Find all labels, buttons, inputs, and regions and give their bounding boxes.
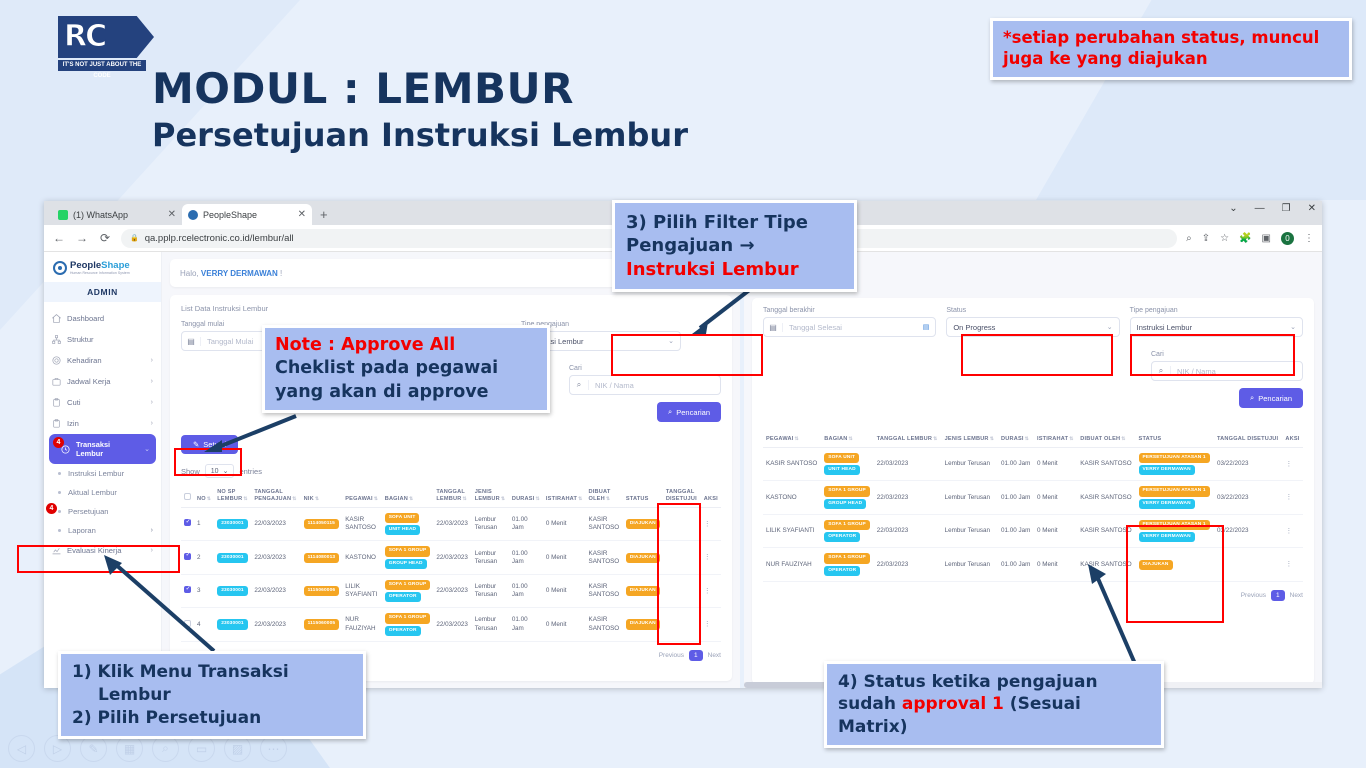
sidebar-item-label: Jadwal Kerja [67,377,110,386]
callout-line: Pengajuan → [626,234,843,257]
cell-tanggal-lembur: 22/03/2023 [433,507,471,540]
tab-label: (1) WhatsApp [73,210,163,220]
col-tanggal-pengajuan[interactable]: TANGGAL PENGAJUAN⇅ [251,485,300,507]
badge: PERSETUJUAN ATASAN 1 [1139,453,1210,463]
cell-durasi: 01.00 Jam [509,507,543,540]
left-capture-main: Halo, VERRY DERMAWAN ! English List Data… [162,252,740,688]
table-row[interactable]: 12303000122/03/20231114050115KASIR SANTO… [181,507,721,540]
calendar-picker-icon[interactable]: ▤ [923,323,936,331]
cell-tanggal-disetujui [663,541,701,574]
hierarchy-icon [52,335,61,344]
close-icon[interactable]: ✕ [298,209,306,220]
card-title: List Data Instruksi Lembur [181,304,721,313]
cell-tanggal-lembur: 22/03/2023 [874,481,942,514]
cell-durasi: 01.00 Jam [509,541,543,574]
cell-no-sp: 23030001 [214,574,251,607]
row-checkbox-cell[interactable] [181,608,194,641]
cell-istirahat: 0 Menit [1034,447,1077,480]
sidebar-item-cuti[interactable]: Cuti › [44,392,161,413]
search-column: Cari ⌕ NIK / Nama ⌕ Pencarian [569,365,721,422]
cell-no-sp: 23030001 [214,507,251,540]
callout-filter-step: 3) Pilih Filter Tipe Pengajuan → Instruk… [612,200,857,292]
right-capture-main: Tanggal berakhir ▤ Tanggal Selesai ▤ Sta… [740,252,1322,688]
chevron-down-icon: ⌄ [668,337,680,345]
nik-badge: 1115060006 [304,586,340,596]
row-checkbox-cell[interactable] [181,507,194,540]
show-entries-row: Show 10 ⌄ entries [181,464,721,478]
close-window-icon[interactable]: ✕ [1308,203,1316,214]
select-value: Instruksi Lembur [1131,323,1290,332]
field-label: Tipe pengajuan [1130,307,1303,314]
url-text: qa.pplp.rcelectronic.co.id/lembur/all [145,233,294,244]
prev-slide-icon[interactable]: ◁ [8,735,35,762]
cell-nik: 1114050115 [301,507,343,540]
cell-jenis-lembur: Lembur Terusan [942,447,998,480]
clipboard-icon [52,419,61,428]
cell-tanggal-lembur: 22/03/2023 [433,541,471,574]
approve-row: ✎ Setujui [181,434,721,454]
cell-no: 2 [194,541,214,574]
cell-status: PERSETUJUAN ATASAN 1VERRY DERMAWAN [1136,447,1214,480]
col-durasi[interactable]: DURASI⇅ [509,485,543,507]
tab-label: PeopleShape [203,210,293,220]
cell-jenis-lembur: Lembur Terusan [942,481,998,514]
col-jenis-lembur[interactable]: JENIS LEMBUR⇅ [472,485,509,507]
cell-no: 1 [194,507,214,540]
col-status[interactable]: STATUS [1136,432,1214,447]
row-menu-icon[interactable]: ⋮ [1285,494,1292,501]
brand-name: PeopleShape [70,261,130,271]
cell-istirahat: 0 Menit [1034,514,1077,547]
sidepanel-icon[interactable]: ▣ [1262,233,1271,244]
zoom-icon[interactable]: ⌕ [1186,233,1192,244]
cell-status: DIAJUKAN [623,608,663,641]
cell-aksi[interactable]: ⋮ [1282,481,1303,514]
cell-nik: 1115060005 [301,608,343,641]
entries-value: 10 [211,468,219,475]
sidebar-item-label: Persetujuan [68,507,109,516]
sidebar-item-label: Instruksi Lembur [68,469,124,478]
sidebar-item-izin[interactable]: Izin › [44,413,161,434]
callout-line: *setiap perubahan status, muncul [1003,28,1339,49]
chevron-right-icon: › [151,527,153,534]
row-checkbox[interactable] [184,519,191,526]
sidebar-item-laporan[interactable]: Laporan › [44,521,161,540]
tipe-pengajuan-select[interactable]: Instruksi Lembur ⌄ [1130,317,1303,337]
cell-aksi[interactable]: ⋮ [1282,548,1303,581]
table-row[interactable]: NUR FAUZIYAHSOFA 1 GROUPOPERATOR22/03/20… [763,548,1303,581]
minimize-icon[interactable]: — [1255,203,1265,214]
cell-status: DIAJUKAN [623,574,663,607]
cell-status: PERSETUJUAN ATASAN 1VERRY DERMAWAN [1136,481,1214,514]
cell-durasi: 01.00 Jam [509,574,543,607]
chevron-right-icon: › [151,378,153,385]
col-nik[interactable]: NIK⇅ [301,485,343,507]
right-pager: Previous 1 Next [763,590,1303,601]
slide-subtitle: Persetujuan Instruksi Lembur [152,116,688,154]
badge: PERSETUJUAN ATASAN 1 [1139,486,1210,496]
callout-line: Matrix) [838,716,1150,738]
cell-tanggal-lembur: 22/03/2023 [874,447,942,480]
cell-tanggal-pengajuan: 22/03/2023 [251,608,300,641]
cell-durasi: 01.00 Jam [998,447,1034,480]
col-istirahat[interactable]: ISTIRAHAT⇅ [543,485,586,507]
cell-aksi[interactable]: ⋮ [701,541,721,574]
date-end-input[interactable]: ▤ Tanggal Selesai ▤ [763,317,936,337]
sp-badge: 23030001 [217,553,248,563]
field-label: Status [946,307,1119,314]
cell-bagian: SOFA 1 GROUPOPERATOR [382,608,434,641]
badge: SOFA 1 GROUP [824,486,870,496]
cell-istirahat: 0 Menit [543,608,586,641]
home-icon [52,314,61,323]
callout-line: 2) Pilih Persetujuan [72,707,352,730]
badge: SOFA UNIT [824,453,859,463]
sidebar-item-dashboard[interactable]: Dashboard [44,308,161,329]
badge: SOFA UNIT [385,513,420,523]
row-checkbox-cell[interactable] [181,541,194,574]
minimize-window-icon[interactable]: ⌄ [1229,203,1237,214]
search-button[interactable]: ⌕ Pencarian [1239,388,1303,408]
cell-nik: 1114080013 [301,541,343,574]
chevron-down-icon: ⌄ [1107,323,1119,331]
bullet-icon [58,491,61,494]
cell-jenis-lembur: Lembur Terusan [472,541,509,574]
cell-durasi: 01.00 Jam [998,481,1034,514]
new-tab-button[interactable]: + [320,207,328,222]
table-row[interactable]: KASIR SANTOSOSOFA UNITUNIT HEAD22/03/202… [763,447,1303,480]
search-input[interactable]: ⌕ NIK / Nama [569,375,721,395]
browser-menu-icon[interactable]: ⋮ [1304,233,1314,244]
sp-badge: 23030001 [217,586,248,596]
cell-aksi[interactable]: ⋮ [701,574,721,607]
col-durasi[interactable]: DURASI⇅ [998,432,1034,447]
cell-istirahat: 0 Menit [1034,481,1077,514]
col-bagian[interactable]: BAGIAN⇅ [821,432,873,447]
callout-line: 4) Status ketika pengajuan [838,671,1150,693]
badge: SOFA 1 GROUP [385,613,431,623]
previous-page-button[interactable]: Previous [1241,592,1266,599]
next-page-button[interactable]: Next [708,652,721,659]
cell-aksi[interactable]: ⋮ [701,507,721,540]
col-dibuat-oleh[interactable]: DIBUAT OLEH⇅ [586,485,623,507]
chevron-right-icon: › [151,357,153,364]
callout-line: Lembur [72,684,352,707]
app-brand: PeopleShape Human Resource Information S… [44,252,161,282]
cell-aksi[interactable]: ⋮ [1282,447,1303,480]
sidebar-item-label: Laporan [68,526,96,535]
briefcase-icon [52,377,61,386]
back-icon[interactable]: ← [52,231,66,245]
cell-tanggal-lembur: 22/03/2023 [874,514,942,547]
col-no[interactable]: NO⇅ [194,485,214,507]
sidebar-item-label: Cuti [67,398,81,407]
sp-badge: 23030001 [217,519,248,529]
cell-bagian: SOFA 1 GROUPOPERATOR [821,514,873,547]
cell-bagian: SOFA 1 GROUPOPERATOR [382,574,434,607]
notification-badge: 4 [53,437,64,448]
calendar-icon: ▤ [764,323,783,332]
chevron-right-icon: › [151,399,153,406]
callout-line: sudah approval 1 (Sesuai [838,693,1150,715]
table-row[interactable]: 32303000122/03/20231115060006LILIK SYAFI… [181,574,721,607]
cell-tanggal-pengajuan: 22/03/2023 [251,574,300,607]
field-label: Cari [569,365,721,372]
row-checkbox[interactable] [184,620,191,627]
page-number[interactable]: 1 [1271,590,1285,601]
badge: VERRY DERMAWAN [1139,499,1195,509]
col-no-sp-lembur[interactable]: NO SP LEMBUR⇅ [214,485,251,507]
col-tanggal-disetujui[interactable]: TANGGAL DISETUJUI [1214,432,1282,447]
col-pegawai[interactable]: PEGAWAI⇅ [763,432,821,447]
logo-tagline: IT'S NOT JUST ABOUT THE CODE [58,60,146,71]
callout-line: 1) Klik Menu Transaksi [72,661,352,684]
setujui-button[interactable]: ✎ Setujui [181,435,238,454]
cell-status: DIAJUKAN [623,507,663,540]
cell-aksi[interactable]: ⋮ [701,608,721,641]
col-pegawai[interactable]: PEGAWAI⇅ [342,485,381,507]
cell-no: 3 [194,574,214,607]
status-select[interactable]: On Progress ⌄ [946,317,1119,337]
row-menu-icon[interactable]: ⋮ [704,621,711,628]
row-menu-icon[interactable]: ⋮ [704,554,711,561]
table-row[interactable]: 22303000122/03/20231114080013KASTONOSOFA… [181,541,721,574]
brand-tagline: Human Resource Information System [70,271,130,275]
badge: OPERATOR [824,566,860,576]
callout-line: Note : Approve All [275,334,537,357]
callout-menu-step: 1) Klik Menu Transaksi Lembur 2) Pilih P… [58,651,366,739]
maximize-icon[interactable]: ❐ [1282,203,1291,214]
bullet-icon [58,510,61,513]
reload-icon[interactable]: ⟳ [98,231,112,245]
badge: VERRY DERMAWAN [1139,465,1195,475]
greeting: Halo, VERRY DERMAWAN ! [180,269,282,278]
callout-status-step: 4) Status ketika pengajuan sudah approva… [824,661,1164,748]
sidebar-item-aktual-lembur[interactable]: Aktual Lembur [44,483,161,502]
table-row[interactable]: LILIK SYAFIANTISOFA 1 GROUPOPERATOR22/03… [763,514,1303,547]
peopleshape-logo-icon [53,261,67,275]
badge: DIAJUKAN [626,586,660,596]
row-menu-icon[interactable]: ⋮ [704,521,711,528]
peopleshape-favicon-icon [188,210,198,220]
chevron-down-icon: ⌄ [223,467,229,475]
browser-tab-whatsapp[interactable]: (1) WhatsApp ✕ [52,204,182,225]
search-input[interactable]: ⌕ NIK / Nama [1151,361,1303,381]
right-search-row: Cari ⌕ NIK / Nama ⌕ Pencarian [763,351,1303,408]
cell-tanggal-disetujui [663,507,701,540]
callout-line: yang akan di approve [275,381,537,404]
cell-tanggal-disetujui: 03/22/2023 [1214,447,1282,480]
nik-badge: 1115060005 [304,619,340,629]
badge: GROUP HEAD [824,499,866,509]
cell-no-sp: 23030001 [214,541,251,574]
badge: OPERATOR [385,626,421,636]
entries-label: entries [239,467,262,476]
cell-pegawai: NUR FAUZIYAH [763,548,821,581]
cell-tanggal-disetujui [663,574,701,607]
cell-aksi[interactable]: ⋮ [1282,514,1303,547]
badge: SOFA 1 GROUP [385,546,431,556]
notification-badge: 4 [46,503,57,514]
cell-dibuat-oleh: KASIR SANTOSO [586,507,623,540]
profile-badge[interactable]: 0 [1281,232,1294,245]
cell-istirahat: 0 Menit [543,541,586,574]
col-jenis-lembur[interactable]: JENIS LEMBUR⇅ [942,432,998,447]
forward-icon[interactable]: → [75,231,89,245]
cell-nik: 1115060006 [301,574,343,607]
callout-line: juga ke yang diajukan [1003,49,1339,70]
table-row[interactable]: 42303000122/03/20231115060005NUR FAUZIYA… [181,608,721,641]
search-button[interactable]: ⌕ Pencarian [657,402,721,422]
input-placeholder: NIK / Nama [1171,367,1302,376]
sidebar-item-label: Kehadiran [67,356,102,365]
bookmark-icon[interactable]: ☆ [1220,233,1229,244]
table-row[interactable]: KASTONOSOFA 1 GROUPGROUP HEAD22/03/2023L… [763,481,1303,514]
cell-no-sp: 23030001 [214,608,251,641]
badge: PERSETUJUAN ATASAN 1 [1139,520,1210,530]
filter-tanggal-berakhir: Tanggal berakhir ▤ Tanggal Selesai ▤ [763,307,936,337]
nik-badge: 1114080013 [304,553,340,563]
close-icon[interactable]: ✕ [168,209,176,220]
badge: GROUP HEAD [385,559,427,569]
right-data-table: PEGAWAI⇅ BAGIAN⇅ TANGGAL LEMBUR⇅ JENIS L… [763,432,1303,582]
col-bagian[interactable]: BAGIAN⇅ [382,485,434,507]
col-tanggal-disetujui[interactable]: TANGGAL DISETUJUI [663,485,701,507]
cell-pegawai: KASTONO [342,541,381,574]
cell-istirahat: 0 Menit [543,507,586,540]
slide-title: MODUL : LEMBUR [152,64,574,113]
field-label: Cari [1151,351,1303,358]
badge: SOFA 1 GROUP [824,520,870,530]
col-dibuat-oleh[interactable]: DIBUAT OLEH⇅ [1077,432,1135,447]
cell-bagian: SOFA 1 GROUPGROUP HEAD [821,481,873,514]
sidebar-item-label: Struktur [67,335,94,344]
cell-pegawai: KASTONO [763,481,821,514]
row-menu-icon[interactable]: ⋮ [704,588,711,595]
sidebar-item-kehadiran[interactable]: Kehadiran › [44,350,161,371]
sidebar-item-jadwal-kerja[interactable]: Jadwal Kerja › [44,371,161,392]
next-page-button[interactable]: Next [1290,592,1303,599]
row-menu-icon[interactable]: ⋮ [1285,461,1292,468]
cell-istirahat: 0 Menit [543,574,586,607]
sidebar-item-label: Aktual Lembur [68,488,117,497]
share-icon[interactable]: ⇪ [1202,233,1210,244]
cell-tanggal-pengajuan: 22/03/2023 [251,541,300,574]
badge: DIAJUKAN [626,619,660,629]
button-label: Pencarian [676,408,710,417]
row-menu-icon[interactable]: ⋮ [1285,528,1292,535]
role-label: ADMIN [44,282,161,302]
sp-badge: 23030001 [217,619,248,629]
field-label: Tanggal berakhir [763,307,936,314]
logo-letters: RC [64,19,105,54]
cell-status: DIAJUKAN [1136,548,1214,581]
nik-badge: 1114050115 [304,519,339,529]
row-checkbox-cell[interactable] [181,574,194,607]
cell-dibuat-oleh: KASIR SANTOSO [586,608,623,641]
cell-pegawai: NUR FAUZIYAH [342,608,381,641]
sidebar-item-transaksi-lembur[interactable]: 4 Transaksi Lembur ⌄ [49,434,156,464]
row-menu-icon[interactable]: ⋮ [1285,561,1292,568]
col-aksi: AKSI [701,485,721,507]
filter-status: Status On Progress ⌄ [946,307,1119,337]
fingerprint-icon [52,356,61,365]
select-all-checkbox[interactable] [184,493,191,500]
col-tanggal-lembur[interactable]: TANGGAL LEMBUR⇅ [433,485,471,507]
col-istirahat[interactable]: ISTIRAHAT⇅ [1034,432,1077,447]
cell-status: DIAJUKAN [623,541,663,574]
cell-pegawai: LILIK SYAFIANTI [342,574,381,607]
sidebar-item-label: Transaksi Lembur [76,440,138,458]
badge: UNIT HEAD [385,525,420,535]
chart-icon [52,546,61,555]
cell-durasi: 01.00 Jam [998,548,1034,581]
cell-status: PERSETUJUAN ATASAN 1VERRY DERMAWAN [1136,514,1214,547]
chevron-down-icon: ⌄ [1290,323,1302,331]
badge: SOFA 1 GROUP [824,553,870,563]
browser-tab-peopleshape[interactable]: PeopleShape ✕ [182,204,312,225]
previous-page-button[interactable]: Previous [659,652,684,659]
cell-dibuat-oleh: KASIR SANTOSO [586,541,623,574]
entries-select[interactable]: 10 ⌄ [205,464,235,478]
col-tanggal-lembur[interactable]: TANGGAL LEMBUR⇅ [874,432,942,447]
browser-toolbar-icons: ⌕ ⇪ ☆ 🧩 ▣ 0 ⋮ [1186,232,1314,245]
badge: DIAJUKAN [1139,560,1173,570]
cell-dibuat-oleh: KASIR SANTOSO [1077,514,1135,547]
show-label: Show [181,467,200,476]
badge: DIAJUKAN [626,553,660,563]
cell-pegawai: LILIK SYAFIANTI [763,514,821,547]
search-icon: ⌕ [1152,366,1171,376]
cell-durasi: 01.00 Jam [509,608,543,641]
cell-dibuat-oleh: KASIR SANTOSO [586,574,623,607]
rc-logo: RC IT'S NOT JUST ABOUT THE CODE [58,16,156,72]
col-status[interactable]: STATUS [623,485,663,507]
cell-durasi: 01.00 Jam [998,514,1034,547]
row-checkbox[interactable] [184,553,191,560]
cell-tanggal-disetujui: 03/22/2023 [1214,481,1282,514]
sidebar-item-evaluasi-kinerja[interactable]: Evaluasi Kinerja › [44,540,161,561]
select-all-header[interactable] [181,485,194,507]
left-data-table: NO⇅ NO SP LEMBUR⇅ TANGGAL PENGAJUAN⇅ NIK… [181,485,721,642]
sidebar-item-persetujuan[interactable]: 4 Persetujuan [44,502,161,521]
cell-pegawai: KASIR SANTOSO [763,447,821,480]
cell-tanggal-lembur: 22/03/2023 [433,608,471,641]
badge: UNIT HEAD [824,465,859,475]
calendar-icon: ▤ [182,337,201,346]
badge: SOFA 1 GROUP [385,580,431,590]
cell-tanggal-lembur: 22/03/2023 [433,574,471,607]
app-sidebar: PeopleShape Human Resource Information S… [44,252,162,688]
input-placeholder: NIK / Nama [589,381,720,390]
cell-tanggal-lembur: 22/03/2023 [874,548,942,581]
whatsapp-favicon-icon [58,210,68,220]
row-checkbox[interactable] [184,586,191,593]
sidebar-item-instruksi-lembur[interactable]: Instruksi Lembur [44,464,161,483]
bullet-icon [58,529,61,532]
sidebar-item-struktur[interactable]: Struktur [44,329,161,350]
extensions-icon[interactable]: 🧩 [1239,233,1251,244]
bullet-icon [58,472,61,475]
page-number[interactable]: 1 [689,650,703,661]
cell-dibuat-oleh: KASIR SANTOSO [1077,548,1135,581]
page-viewport: PeopleShape Human Resource Information S… [44,252,1322,688]
cell-tanggal-disetujui [663,608,701,641]
sidebar-item-label: Dashboard [67,314,104,323]
pencil-icon: ✎ [193,440,199,449]
chevron-right-icon: › [151,547,153,554]
cell-jenis-lembur: Lembur Terusan [472,574,509,607]
